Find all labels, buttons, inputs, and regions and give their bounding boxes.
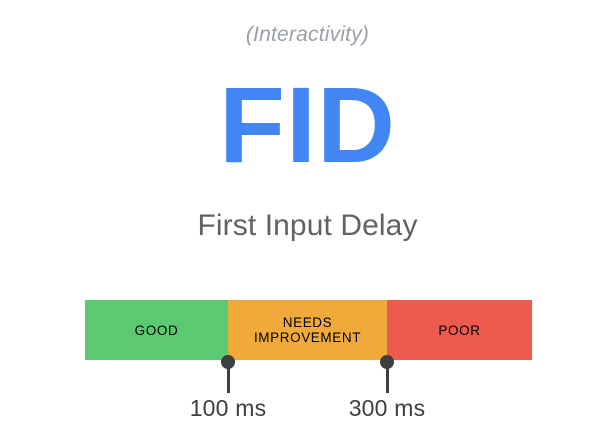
bar-segment-good-label: GOOD [135, 323, 179, 338]
metric-category-label: (Interactivity) [0, 23, 615, 47]
threshold-bar: GOOD NEEDS IMPROVEMENT POOR [85, 300, 532, 360]
bar-segment-poor: POOR [387, 300, 532, 360]
metric-full-name: First Input Delay [0, 209, 615, 243]
metric-abbreviation-title: FID [0, 62, 615, 187]
threshold-value-300ms: 300 ms [307, 395, 467, 422]
bar-segment-poor-label: POOR [438, 323, 480, 338]
threshold-value-100ms: 100 ms [148, 395, 308, 422]
bar-segment-good: GOOD [85, 300, 228, 360]
bar-segment-needs-improvement: NEEDS IMPROVEMENT [228, 300, 387, 360]
bar-segment-needs-improvement-label: NEEDS IMPROVEMENT [254, 315, 361, 345]
marker-dot-icon [380, 355, 394, 369]
infographic-canvas: (Interactivity) FID First Input Delay GO… [0, 0, 615, 442]
marker-dot-icon [221, 355, 235, 369]
